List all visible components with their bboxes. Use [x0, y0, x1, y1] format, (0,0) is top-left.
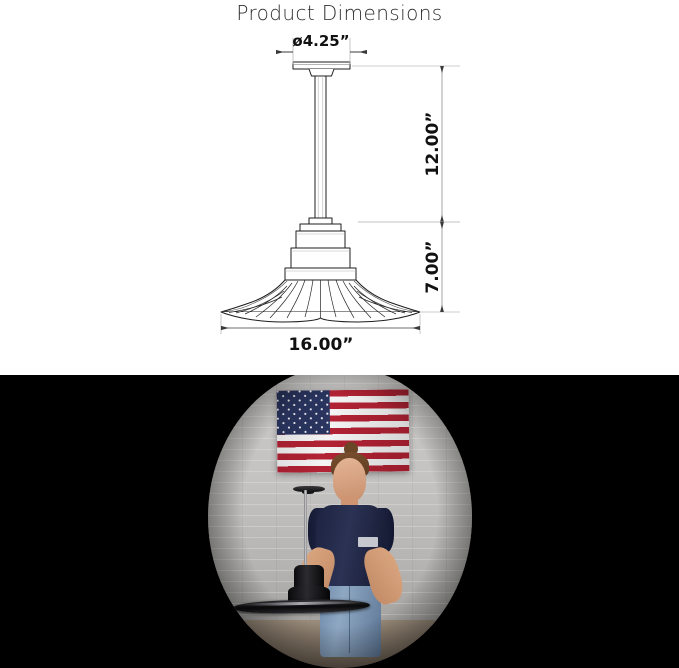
dimension-stem-length: 12.00” [352, 66, 460, 222]
dimension-drawing: ø4.25” 12.00” 7.00” 16.00” [0, 0, 679, 375]
dimension-drawing-panel: Product Dimensions [0, 0, 679, 375]
dimension-label-shade-height: 7.00” [423, 240, 443, 293]
product-image: Product Dimensions [0, 0, 679, 668]
fixture-outline [221, 62, 420, 322]
dimension-canopy-diameter: ø4.25” [276, 32, 367, 64]
dimension-label-stem: 12.00” [423, 112, 443, 177]
scalloped-shade [221, 280, 420, 322]
product-photo [208, 375, 472, 668]
product-photo-panel: STEEL LIGHTING CO. [0, 375, 679, 668]
ceiling-canopy [293, 62, 350, 76]
dimension-label-shade-diameter: 16.00” [289, 335, 354, 355]
fitter-housing [285, 218, 356, 280]
down-stem [315, 76, 326, 220]
dimension-label-canopy: ø4.25” [292, 32, 349, 50]
